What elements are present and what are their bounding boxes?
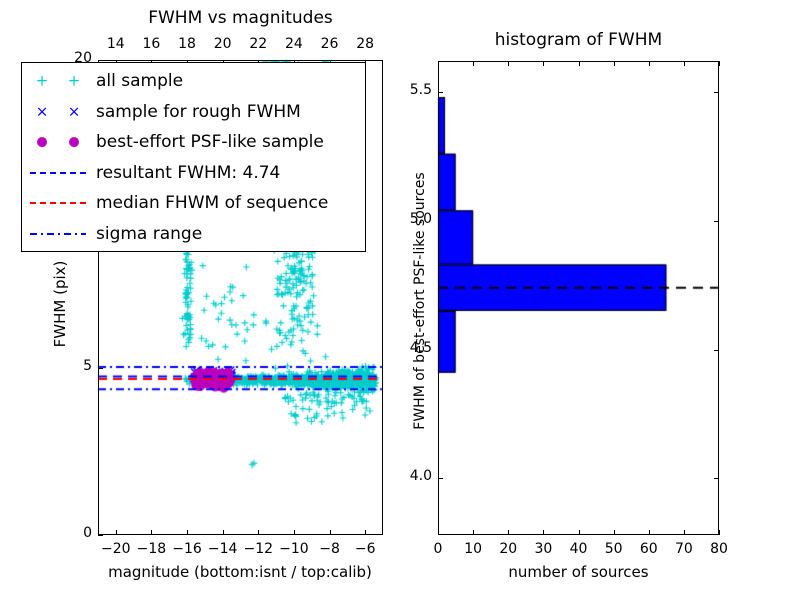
legend-line-swatch	[30, 202, 86, 204]
legend-line-swatch	[30, 172, 86, 174]
legend-item-5[interactable]: sigma range	[22, 219, 365, 249]
legend-line-swatch	[30, 233, 86, 235]
legend-marker-icon: ●	[68, 136, 79, 149]
legend-item-3[interactable]: resultant FWHM: 4.74	[22, 158, 365, 188]
legend-item-label: sigma range	[96, 224, 202, 244]
right-yaxis-label: FWHM of best-effort PSF-like sources	[412, 131, 428, 471]
legend-item-label: sample for rough FWHM	[96, 102, 301, 122]
legend: ++all sample××sample for rough FWHM●●bes…	[21, 62, 366, 252]
right-axes-frame	[438, 61, 719, 535]
legend-item-4[interactable]: median FHWM of sequence	[22, 188, 365, 218]
legend-handle-3	[22, 158, 96, 188]
legend-handle-5	[22, 219, 96, 249]
legend-handle-4	[22, 188, 96, 218]
legend-item-1[interactable]: ××sample for rough FWHM	[22, 97, 365, 127]
legend-handle-2: ●●	[22, 127, 96, 157]
legend-handle-1: ××	[22, 97, 96, 127]
legend-marker-icon: ×	[36, 104, 49, 119]
legend-marker-icon: ×	[68, 104, 81, 119]
figure-canvas: FWHM vs magnitudes 1416182022242628 −20−…	[0, 0, 800, 600]
legend-item-2[interactable]: ●●best-effort PSF-like sample	[22, 127, 365, 157]
right-xaxis-label: number of sources	[438, 563, 719, 581]
legend-marker-icon: +	[36, 74, 49, 89]
legend-marker-icon: ●	[36, 136, 47, 149]
legend-item-label: all sample	[96, 71, 183, 91]
legend-handle-0: ++	[22, 66, 96, 96]
legend-item-label: resultant FWHM: 4.74	[96, 163, 280, 183]
legend-item-label: best-effort PSF-like sample	[96, 132, 324, 152]
legend-item-label: median FHWM of sequence	[96, 193, 328, 213]
legend-item-0[interactable]: ++all sample	[22, 66, 365, 96]
legend-marker-icon: +	[68, 74, 81, 89]
